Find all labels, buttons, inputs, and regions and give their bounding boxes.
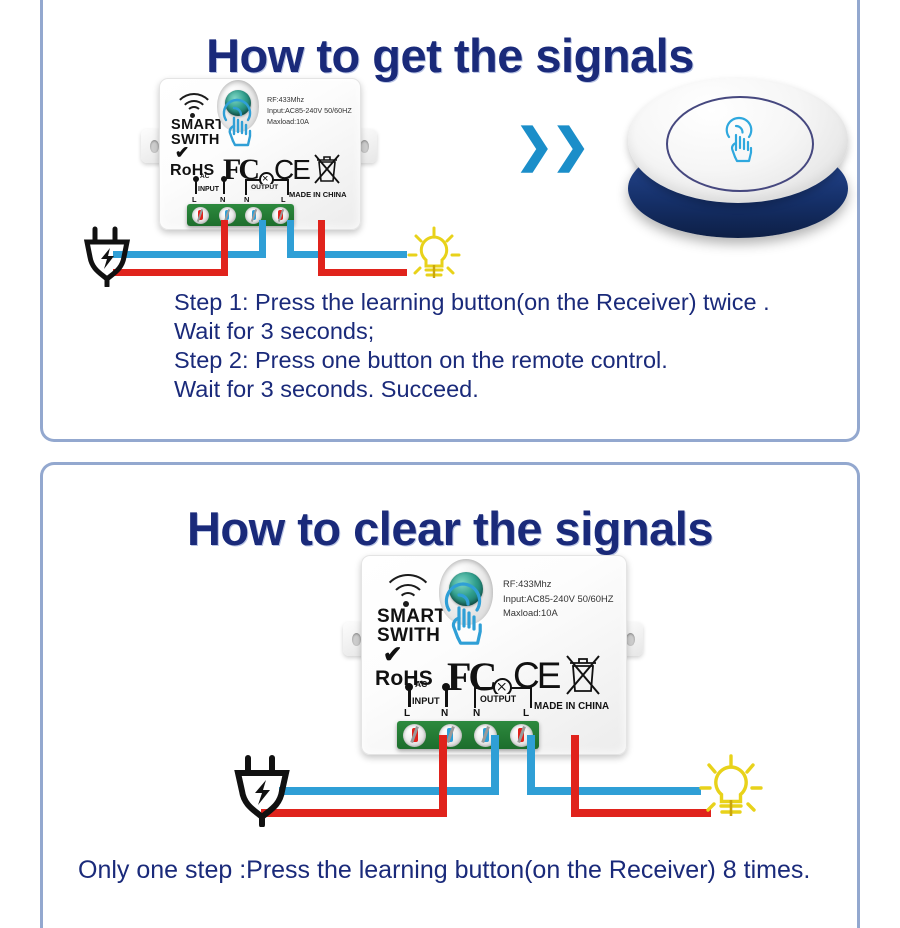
pin-stem-n1 <box>223 181 225 194</box>
wire-blue-in-vertical <box>259 220 266 258</box>
wire-red-out-horizontal-2 <box>571 809 711 817</box>
terminal-label-1: L <box>192 195 197 204</box>
wire-blue-out-vertical-2 <box>527 735 535 787</box>
panel-get-title: How to get the signals <box>43 28 857 83</box>
arrow-chevrons-icon: ❯❯ <box>515 118 588 172</box>
check-mark-icon-2: ✔ <box>383 643 402 666</box>
wifi-icon-2 <box>381 572 435 606</box>
check-mark-icon: ✔ <box>175 144 189 161</box>
wifi-icon <box>173 91 215 117</box>
device-specs-2: RF:433Mhz Input:AC85-240V 50/60HZ Maxloa… <box>503 577 614 621</box>
step-line-2: Wait for 3 seconds; <box>174 317 770 346</box>
light-bulb-icon <box>406 225 462 287</box>
spec-maxload-2: Maxload:10A <box>503 606 614 621</box>
terminal-label-4-2: L <box>523 708 529 719</box>
terminal-label-3: N <box>244 195 249 204</box>
device-specs: RF:433Mhz Input:AC85-240V 50/60HZ Maxloa… <box>267 94 352 127</box>
panel-how-to-get: How to get the signals SMART SWITH ✔ RoH… <box>40 0 860 442</box>
output-label: OUTPUT <box>250 184 279 191</box>
hand-touch-icon <box>217 96 257 148</box>
spec-rf-2: RF:433Mhz <box>503 577 614 592</box>
output-label-2: OUTPUT <box>479 694 517 704</box>
hand-touch-icon-remote <box>720 114 758 166</box>
panel-clear-note: Only one step :Press the learning button… <box>78 856 810 885</box>
power-plug-icon-2 <box>231 753 293 827</box>
input-label: INPUT <box>198 186 219 193</box>
instruction-infographic: How to get the signals SMART SWITH ✔ RoH… <box>0 0 900 900</box>
step-line-1: Step 1: Press the learning button(on the… <box>174 288 770 317</box>
receiver-device-2: SMART SWITH ✔ RoHS FC CE <box>361 555 625 753</box>
step-line-4: Wait for 3 seconds. Succeed. <box>174 375 770 404</box>
spec-maxload: Maxload:10A <box>267 116 352 127</box>
spec-input-2: Input:AC85-240V 50/60HZ <box>503 592 614 607</box>
power-plug-icon <box>81 225 133 287</box>
wire-blue-out-vertical <box>287 220 294 251</box>
terminal-label-4: L <box>281 195 286 204</box>
terminal-label-2-2: N <box>441 708 448 719</box>
input-label-2: INPUT <box>412 696 440 706</box>
ac-label: AC <box>200 173 209 180</box>
spec-rf: RF:433Mhz <box>267 94 352 105</box>
wire-red-in-vertical-2 <box>439 735 447 817</box>
wire-blue-in-horizontal <box>113 251 266 258</box>
receiver-device-1: SMART SWITH ✔ RoHS FC CE <box>159 78 359 228</box>
crossed-out-bin-icon <box>314 154 340 184</box>
panel-clear-title: How to clear the signals <box>43 501 857 556</box>
wire-blue-out-horizontal <box>287 251 407 258</box>
wire-red-out-vertical-2 <box>571 735 579 817</box>
light-bulb-icon-2 <box>698 753 764 827</box>
remote-control-button[interactable] <box>628 78 848 238</box>
terminal-label-1-2: L <box>404 708 410 719</box>
spec-input: Input:AC85-240V 50/60HZ <box>267 105 352 116</box>
panel-get-steps: Step 1: Press the learning button(on the… <box>174 288 770 404</box>
terminal-label-2: N <box>220 195 225 204</box>
wire-blue-in-horizontal-2 <box>279 787 499 795</box>
terminal-label-3-2: N <box>473 708 480 719</box>
wire-red-in-vertical <box>221 220 228 276</box>
crossed-out-bin-icon-2 <box>566 655 600 695</box>
terminal-screw-1-2[interactable] <box>403 724 426 747</box>
wire-red-out-horizontal <box>318 269 407 276</box>
pin-stem-n1-2 <box>445 690 448 707</box>
wire-blue-in-vertical-2 <box>491 735 499 795</box>
step-line-3: Step 2: Press one button on the remote c… <box>174 346 770 375</box>
pin-stem-l1 <box>195 181 197 194</box>
made-in-label-2: MADE IN CHINA <box>534 701 609 712</box>
hand-touch-icon-2 <box>437 579 489 647</box>
terminal-block-2 <box>397 721 539 749</box>
terminal-block <box>187 204 294 226</box>
ac-label-2: AC <box>415 679 427 689</box>
wire-blue-out-horizontal-2 <box>527 787 701 795</box>
pin-stem-l1-2 <box>408 690 411 707</box>
terminal-screw-1[interactable] <box>192 207 209 224</box>
wire-red-out-vertical <box>318 220 325 276</box>
made-in-label: MADE IN CHINA <box>289 190 347 199</box>
